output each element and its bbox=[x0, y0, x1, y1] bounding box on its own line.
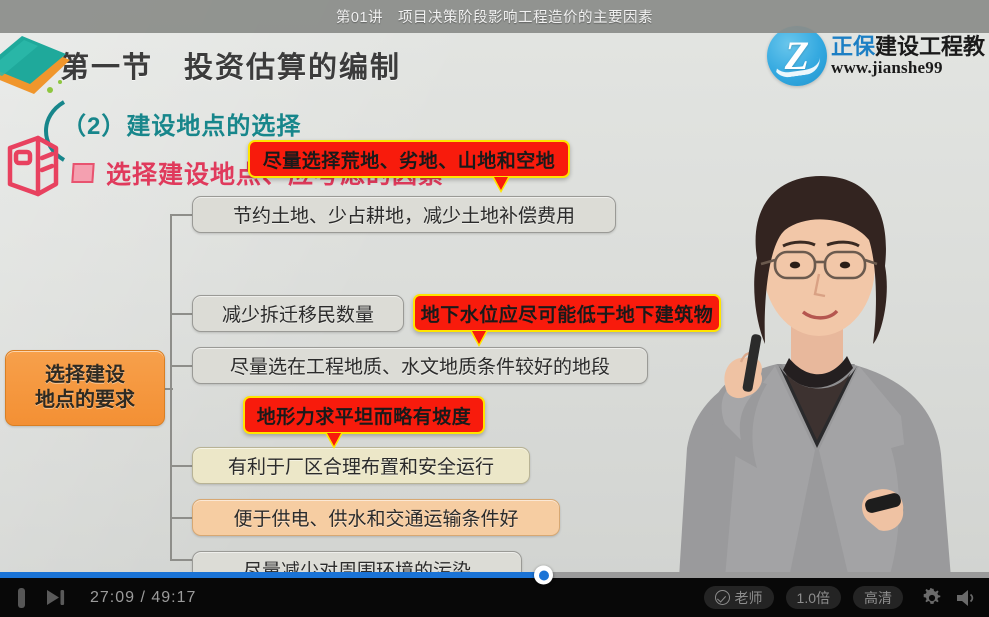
callout-2[interactable]: 地下水位应尽可能低于地下建筑物 bbox=[413, 294, 721, 332]
mindmap-node-3[interactable]: 尽量选在工程地质、水文地质条件较好的地段 bbox=[192, 347, 648, 384]
time-display: 27:09 / 49:17 bbox=[90, 589, 196, 607]
player-control-bar: 27:09 / 49:17 老师 1.0倍 高清 bbox=[0, 578, 989, 617]
mindmap-node-1[interactable]: 节约土地、少占耕地，减少土地补偿费用 bbox=[192, 196, 616, 233]
progress-played bbox=[0, 572, 544, 578]
callout-2-tail bbox=[470, 331, 488, 347]
mindmap-node-4[interactable]: 有利于厂区合理布置和安全运行 bbox=[192, 447, 530, 484]
mindmap-root-node[interactable]: 选择建设 地点的要求 bbox=[5, 350, 165, 426]
mindmap-branch bbox=[170, 214, 192, 216]
callout-3[interactable]: 地形力求平坦而略有坡度 bbox=[243, 396, 485, 434]
mindmap-branch bbox=[170, 465, 192, 467]
root-node-line1: 选择建设 bbox=[45, 363, 125, 388]
mindmap-branch bbox=[170, 365, 192, 367]
callout-3-tail bbox=[325, 433, 343, 449]
brand-name: 正保建设工程教 bbox=[831, 35, 985, 59]
callout-2-text: 地下水位应尽可能低于地下建筑物 bbox=[421, 300, 714, 327]
lecture-title-bar: 第01讲 项目决策阶段影响工程造价的主要因素 bbox=[0, 0, 989, 33]
brand-name-part2: 建设工程教 bbox=[875, 34, 985, 59]
brand-url: www.jianshe99 bbox=[831, 59, 985, 77]
teacher-label: 老师 bbox=[735, 588, 763, 608]
volume-button[interactable] bbox=[949, 578, 983, 617]
video-quality-button[interactable]: 高清 bbox=[853, 586, 903, 609]
root-node-line2: 地点的要求 bbox=[35, 388, 135, 413]
page-title: 第一节 投资估算的编制 bbox=[60, 44, 401, 86]
mindmap-branch bbox=[170, 559, 192, 561]
settings-button[interactable] bbox=[915, 578, 949, 617]
next-track-icon bbox=[46, 589, 65, 606]
mindmap-branch bbox=[170, 313, 192, 315]
slide-background bbox=[0, 0, 989, 578]
brand-logo: Z 正保建设工程教 www.jianshe99 bbox=[767, 26, 985, 86]
video-stage[interactable]: 第一节 投资估算的编制 （2）建设地点的选择 选择建设地点、应考虑的因素 选择建… bbox=[0, 0, 989, 578]
mindmap-node-2[interactable]: 减少拆迁移民数量 bbox=[192, 295, 404, 332]
mindmap-node-5[interactable]: 便于供电、供水和交通运输条件好 bbox=[192, 499, 560, 536]
brand-text: 正保建设工程教 www.jianshe99 bbox=[831, 35, 985, 77]
lecture-title: 第01讲 项目决策阶段影响工程造价的主要因素 bbox=[336, 6, 653, 27]
progress-bar[interactable] bbox=[0, 572, 989, 578]
mindmap-trunk bbox=[170, 214, 172, 559]
volume-icon bbox=[956, 589, 976, 607]
speed-label: 1.0倍 bbox=[797, 588, 830, 608]
book-icon bbox=[4, 134, 62, 200]
check-circle-icon bbox=[715, 590, 730, 605]
callout-1[interactable]: 尽量选择荒地、劣地、山地和空地 bbox=[248, 140, 570, 178]
callout-1-tail bbox=[492, 177, 510, 193]
progress-handle[interactable] bbox=[534, 566, 553, 585]
logo-mark-icon: Z bbox=[767, 26, 827, 86]
subsection-title: （2）建设地点的选择 bbox=[62, 106, 301, 141]
bullet-square-icon bbox=[71, 163, 94, 183]
brand-name-part1: 正保 bbox=[831, 34, 875, 59]
next-button[interactable] bbox=[38, 578, 72, 617]
pause-button[interactable] bbox=[4, 578, 38, 617]
quality-label: 高清 bbox=[864, 588, 892, 608]
callout-1-text: 尽量选择荒地、劣地、山地和空地 bbox=[263, 146, 556, 173]
video-player: 第一节 投资估算的编制 （2）建设地点的选择 选择建设地点、应考虑的因素 选择建… bbox=[0, 0, 989, 617]
playback-speed-button[interactable]: 1.0倍 bbox=[786, 586, 841, 609]
mindmap-branch bbox=[170, 517, 192, 519]
book-stack-icon bbox=[0, 32, 72, 104]
callout-3-text: 地形力求平坦而略有坡度 bbox=[257, 402, 472, 429]
gear-icon bbox=[922, 588, 942, 608]
pause-icon bbox=[18, 588, 25, 608]
teacher-selector-button[interactable]: 老师 bbox=[704, 586, 774, 609]
